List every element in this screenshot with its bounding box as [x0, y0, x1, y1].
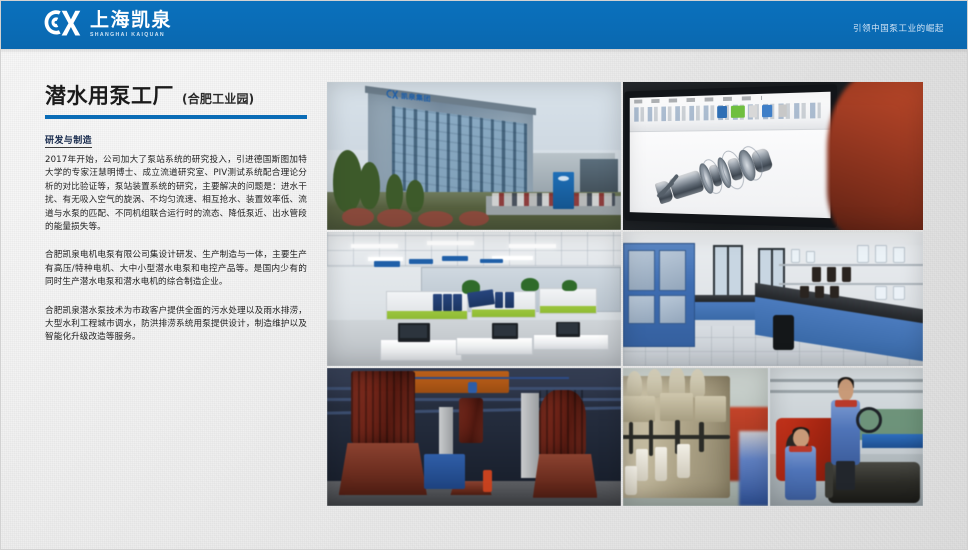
photo-workers-assembly[interactable] — [770, 368, 923, 506]
page-header: 上海凯泉 SHANGHAI KAIQUAN 引领中国泵工业的崛起 — [0, 0, 968, 49]
building-sign-text: 凯泉集团 — [401, 91, 431, 104]
photo-cad-design[interactable] — [623, 82, 923, 230]
person-background — [456, 270, 471, 294]
kaiquan-qk-logo-icon — [43, 9, 83, 40]
hand-wheel-icon — [856, 407, 882, 433]
body-paragraph-3: 合肥凯泉潜水泵技术为市政客户提供全面的污水处理以及雨水排涝，大型水利工程城市调水… — [45, 305, 307, 345]
person-seated-2 — [515, 291, 536, 327]
photo-row-bottom-right — [623, 368, 923, 506]
slide-canvas: 上海凯泉 SHANGHAI KAIQUAN 引领中国泵工业的崛起 潜水用泵工厂 … — [0, 0, 968, 550]
photo-office-building[interactable]: 凯泉集团 — [327, 82, 621, 230]
body-paragraph-1: 2017年开始，公司加大了泵站系统的研究投入，引进德国斯图加特大学的专家汪慧明博… — [45, 154, 307, 234]
person-seated-3 — [577, 288, 598, 323]
header-slogan: 引领中国泵工业的崛起 — [853, 22, 944, 34]
page-title-sub: (合肥工业园) — [182, 90, 254, 107]
section-heading: 研发与制造 — [45, 133, 92, 148]
page-title: 潜水用泵工厂 (合肥工业园) — [45, 84, 307, 108]
header-shadow — [0, 49, 968, 53]
photo-laboratory[interactable] — [623, 232, 923, 366]
logo-text-cn: 上海凯泉 — [90, 10, 172, 31]
brand-logo[interactable]: 上海凯泉 SHANGHAI KAIQUAN — [43, 9, 172, 40]
person-standing — [333, 286, 362, 353]
text-column: 潜水用泵工厂 (合肥工业园) 研发与制造 2017年开始，公司加大了泵站系统的研… — [45, 84, 307, 345]
photo-pump-assembly-hall[interactable] — [327, 368, 621, 506]
kaiquan-qk-logo-icon — [386, 89, 399, 101]
photo-gallery: 凯泉集团 — [327, 82, 923, 504]
photo-diesel-engine[interactable] — [623, 368, 768, 506]
logo-text-en: SHANGHAI KAIQUAN — [90, 32, 172, 39]
worker-kneeling — [785, 429, 816, 501]
title-underline-rule — [45, 115, 307, 119]
photo-rd-office[interactable]: Class R&D Team — [327, 232, 621, 366]
body-paragraph-2: 合肥凯泉电机电泵有限公司集设计研发、生产制造与一体，主要生产有高压/特种电机、大… — [45, 249, 307, 289]
page-title-main: 潜水用泵工厂 — [45, 84, 174, 108]
